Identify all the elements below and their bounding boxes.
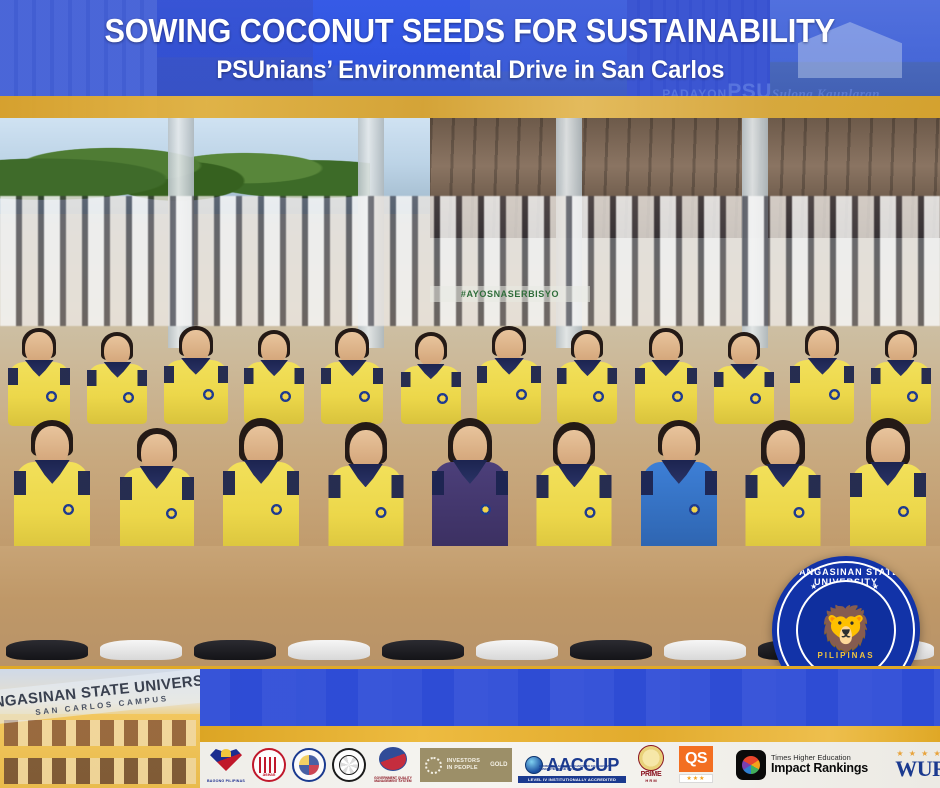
asean-label: asean bbox=[254, 772, 284, 777]
photo-shoe bbox=[288, 640, 370, 660]
prime-hrm-seal-label: GOVERNMENT QUALITY MANAGEMENT SYSTEM bbox=[372, 777, 414, 784]
iip-ring-icon bbox=[425, 757, 442, 774]
prime-hrm-seal-icon bbox=[638, 745, 664, 771]
prime-hrm-logo: PRIME H R M bbox=[632, 745, 670, 785]
main-photograph: #AYOSNASERBISYO bbox=[0, 118, 940, 666]
poster-subtitle: PSUnians’ Environmental Drive in San Car… bbox=[216, 56, 724, 85]
qs-stars: ★★★ bbox=[679, 774, 713, 783]
prime-hrm-seal-logo: GOVERNMENT QUALITY MANAGEMENT SYSTEM bbox=[372, 746, 414, 784]
campus-building-facade bbox=[0, 714, 200, 788]
government-seal-logo bbox=[292, 748, 326, 782]
poster-footer: PANGASINAN STATE UNIVERSITY SAN CARLOS C… bbox=[0, 666, 940, 788]
photo-shoe bbox=[194, 640, 276, 660]
poster-title: SOWING COCONUT SEEDS FOR SUSTAINABILITY bbox=[105, 14, 835, 49]
aaccup-logo: AACCUP ACCREDITING AGENCY OF CHARTERED C… bbox=[518, 746, 626, 784]
times-higher-education-logo: Times Higher Education Impact Rankings bbox=[722, 747, 882, 783]
photo-shoe bbox=[476, 640, 558, 660]
photo-shoe bbox=[100, 640, 182, 660]
institutional-seal-logo bbox=[332, 748, 366, 782]
footer-gold-stripe bbox=[200, 726, 940, 742]
investors-in-people-logo: INVESTORS IN PEOPLE GOLD bbox=[420, 748, 512, 782]
footer-blue-photo-band bbox=[200, 669, 940, 729]
prime-hrm-label: PRIME bbox=[632, 771, 670, 778]
accreditation-logo-bar: BAGONG PILIPINAS asean GOVERNMENT QUALIT… bbox=[200, 742, 940, 788]
the-hexagon-icon bbox=[736, 750, 766, 780]
photo-background-crowd bbox=[0, 196, 940, 326]
header-gold-stripe bbox=[0, 96, 940, 118]
campus-building-photo: PANGASINAN STATE UNIVERSITY SAN CARLOS C… bbox=[0, 669, 200, 788]
wuri-logo: ★ ★ ★ ★ ★ WURI The WORLD UNIVERSITY RANK… bbox=[888, 746, 940, 784]
seal-country: PILIPINAS bbox=[772, 651, 920, 660]
psu-seal: PANGASINAN STATE UNIVERSITY ★ ★ ★ ★ ★ 🦁 … bbox=[772, 556, 920, 666]
asean-logo: asean bbox=[252, 748, 286, 782]
bagong-pilipinas-label: BAGONG PILIPINAS bbox=[206, 779, 246, 783]
poster-header: PADAYONPSUSulong Kaunlaran SOWING COCONU… bbox=[0, 0, 940, 118]
bagong-pilipinas-logo: BAGONG PILIPINAS bbox=[206, 747, 246, 783]
photo-shoe bbox=[382, 640, 464, 660]
photo-shoe bbox=[664, 640, 746, 660]
poster-canvas: PADAYONPSUSulong Kaunlaran SOWING COCONU… bbox=[0, 0, 940, 788]
photo-service-banner: #AYOSNASERBISYO bbox=[430, 286, 590, 302]
lion-icon: 🦁 bbox=[819, 608, 874, 652]
wuri-wordmark: WURI bbox=[895, 758, 940, 780]
investors-in-people-label: INVESTORS IN PEOPLE bbox=[447, 758, 480, 772]
investors-in-people-badge: GOLD bbox=[490, 762, 507, 768]
aaccup-subtitle: ACCREDITING AGENCY OF CHARTERED COLLEGES… bbox=[539, 765, 625, 771]
prime-hrm-sublabel: H R M bbox=[632, 778, 670, 783]
aaccup-accreditation-band: LEVEL IV INSTITUTIONALLY ACCREDITED bbox=[518, 776, 626, 783]
qs-rankings-logo: QS ★★★ bbox=[676, 746, 716, 784]
photo-shoe bbox=[6, 640, 88, 660]
qs-wordmark: QS bbox=[679, 746, 713, 772]
photo-shoe bbox=[570, 640, 652, 660]
the-line2: Impact Rankings bbox=[771, 762, 868, 776]
